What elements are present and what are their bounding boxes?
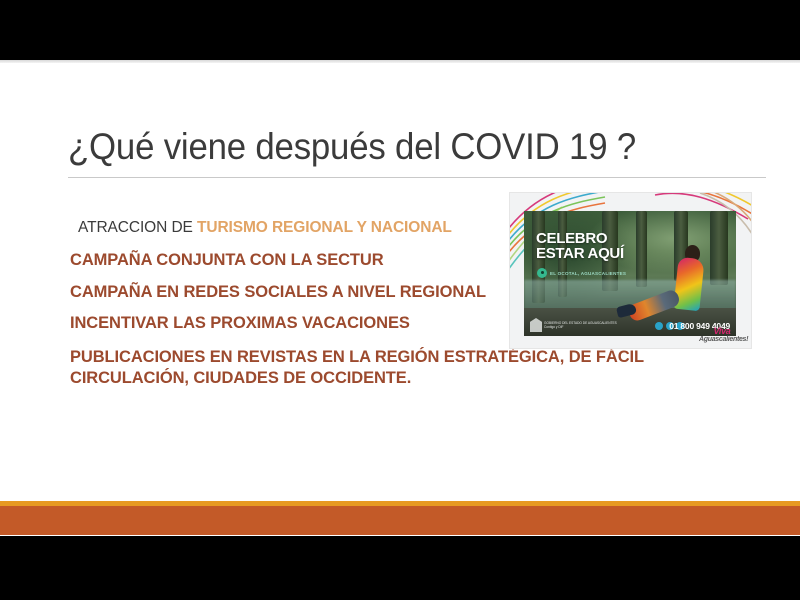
bullet-line-1-accent: TURISMO REGIONAL Y NACIONAL <box>197 219 452 236</box>
government-logo-text: GOBIERNO DEL ESTADO DE AGUASCALIENTES Co… <box>544 321 617 330</box>
brand-primary-text: Viva <box>699 327 745 336</box>
slide-top-edge <box>0 60 800 63</box>
government-logo: GOBIERNO DEL ESTADO DE AGUASCALIENTES Co… <box>530 318 617 332</box>
tree-trunk <box>636 211 647 287</box>
bullet-line-1-prefix: ATRACCION DE <box>78 219 197 236</box>
ad-headline: CELEBRO ESTAR AQUÍ <box>536 231 624 262</box>
tree-trunk <box>710 211 728 285</box>
location-pin-icon <box>537 268 547 278</box>
facebook-icon <box>655 322 663 330</box>
ad-photograph: CELEBRO ESTAR AQUÍ EL OCOTAL, AGUASCALIE… <box>524 211 736 336</box>
tourism-ad-image: CELEBRO ESTAR AQUÍ EL OCOTAL, AGUASCALIE… <box>510 193 751 348</box>
accent-bar-orange <box>0 506 800 535</box>
gov-logo-line-2: Contigo y DIF <box>544 325 564 329</box>
ad-location: EL OCOTAL, AGUASCALIENTES <box>537 268 626 278</box>
ad-brand-logo: Viva Aguascalientes! <box>699 327 745 344</box>
ad-location-label: EL OCOTAL, AGUASCALIENTES <box>550 271 626 276</box>
bullet-line-5: PUBLICACIONES EN REVISTAS EN LA REGIÓN E… <box>70 347 685 389</box>
slide-viewer: ¿Qué viene después del COVID 19 ? ATRACC… <box>0 0 800 600</box>
title-divider-rule <box>68 177 766 178</box>
slide-title: ¿Qué viene después del COVID 19 ? <box>68 126 726 168</box>
presentation-slide: ¿Qué viene después del COVID 19 ? ATRACC… <box>0 60 800 536</box>
ad-headline-line-2: ESTAR AQUÍ <box>536 246 624 261</box>
government-shield-icon <box>530 318 542 332</box>
brand-secondary-text: Aguascalientes! <box>699 336 745 344</box>
